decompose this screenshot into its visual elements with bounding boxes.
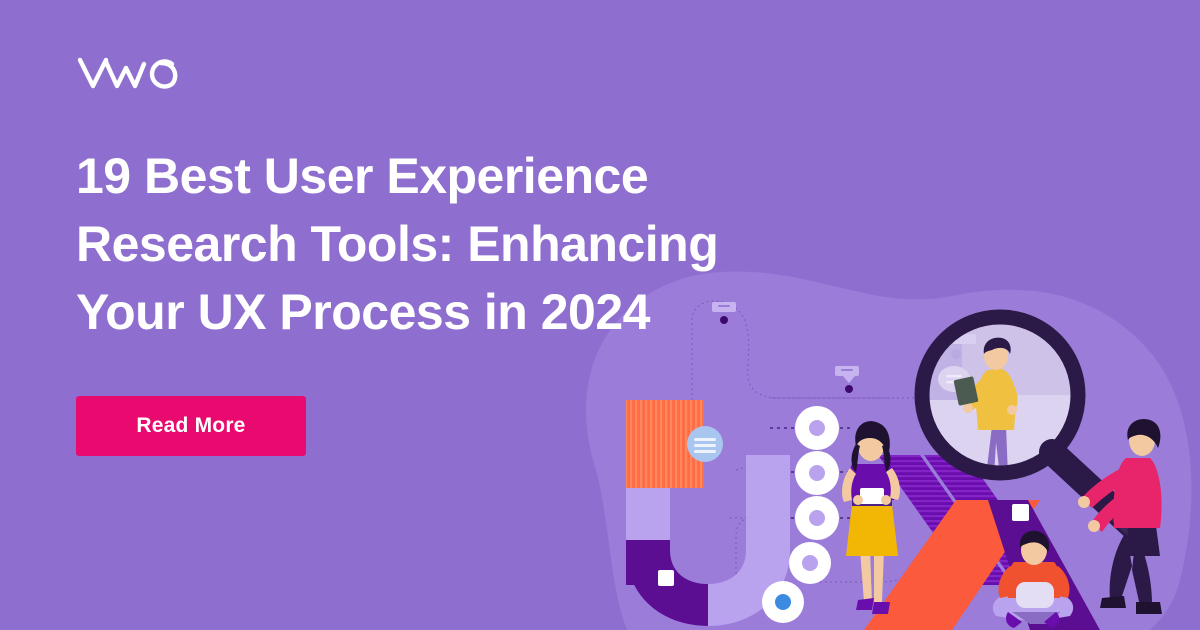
character-man-holding-magnifier	[1078, 419, 1162, 614]
tooltip-tag	[835, 366, 859, 393]
progress-dot	[795, 406, 839, 450]
page-title: 19 Best User Experience Research Tools: …	[76, 142, 756, 346]
progress-dot	[789, 542, 831, 584]
vwo-logo[interactable]: VWO	[76, 50, 180, 94]
progress-dot	[795, 496, 839, 540]
character-standing-woman-with-device	[842, 421, 900, 614]
read-more-button[interactable]: Read More	[76, 396, 306, 456]
progress-dot	[795, 451, 839, 495]
progress-dot-active	[762, 581, 804, 623]
menu-badge-icon	[687, 426, 723, 462]
social-share-card: VWO 19 Best User Experience Research Too…	[0, 0, 1200, 630]
